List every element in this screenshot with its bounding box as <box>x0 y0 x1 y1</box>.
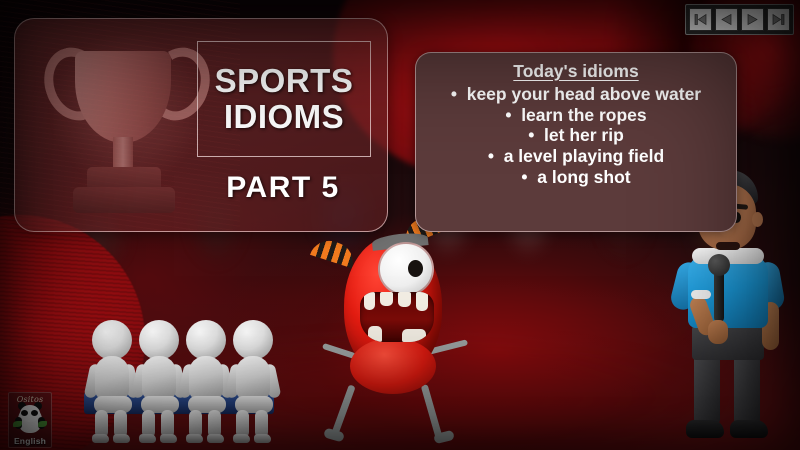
video-slide: SPORTS IDIOMS PART 5 Today's idioms keep… <box>0 0 800 450</box>
trophy-icon <box>31 25 221 230</box>
idiom-item: learn the ropes <box>426 105 726 126</box>
title-line-1: SPORTS <box>215 64 354 98</box>
part-label: PART 5 <box>197 171 369 205</box>
idiom-item: a level playing field <box>426 146 726 167</box>
idiom-item: keep your head above water <box>426 84 726 105</box>
idioms-panel-title: Today's idioms <box>426 61 726 82</box>
idiom-item: a long shot <box>426 167 726 188</box>
channel-logo[interactable]: Ositos English <box>8 392 52 448</box>
title-card: SPORTS IDIOMS PART 5 <box>14 18 388 232</box>
monster-character <box>316 198 466 448</box>
monster-mouth <box>360 292 434 342</box>
logo-top-text: Ositos <box>9 395 51 404</box>
play-button[interactable] <box>741 8 764 31</box>
bench-figure <box>180 320 232 440</box>
bench-figure <box>227 320 279 440</box>
microphone-icon <box>714 270 724 322</box>
skip-to-start-button[interactable] <box>689 8 712 31</box>
title-box: SPORTS IDIOMS <box>197 41 371 157</box>
play-icon <box>746 13 759 26</box>
bench-figure <box>133 320 185 440</box>
logo-bottom-text: English <box>9 436 51 446</box>
rewind-icon <box>720 13 733 26</box>
rewind-button[interactable] <box>715 8 738 31</box>
idioms-list: keep your head above water learn the rop… <box>426 84 726 187</box>
idioms-panel: Today's idioms keep your head above wate… <box>415 52 737 232</box>
bench-figure <box>86 320 138 440</box>
monster-eye <box>378 242 434 296</box>
skip-to-end-button[interactable] <box>767 8 790 31</box>
skip-back-icon <box>694 13 707 26</box>
monster-horn-left <box>310 236 358 269</box>
idiom-item: let her rip <box>426 125 726 146</box>
skip-forward-icon <box>772 13 785 26</box>
player-controls[interactable] <box>685 4 794 35</box>
title-line-2: IDIOMS <box>224 100 344 134</box>
